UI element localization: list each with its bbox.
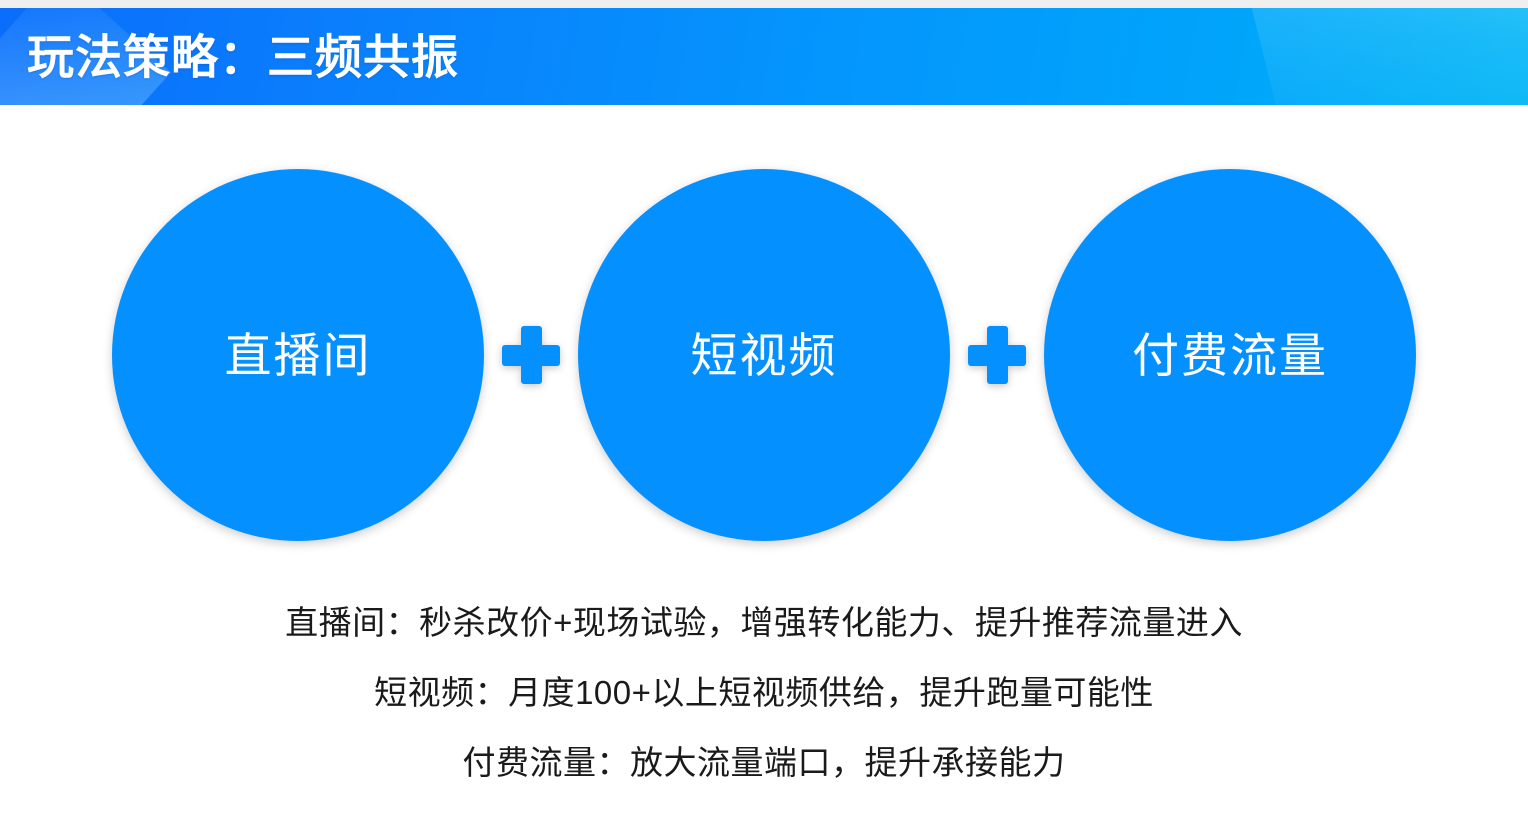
top-edge-strip	[0, 0, 1528, 8]
plus-icon	[502, 326, 560, 384]
plus-icon-vertical-bar	[987, 326, 1008, 384]
concept-circle-label: 付费流量	[1132, 332, 1328, 379]
plus-icon-vertical-bar	[521, 326, 542, 384]
detail-line-paid-traffic: 付费流量：放大流量端口，提升承接能力	[0, 728, 1528, 798]
detail-text-block: 直播间：秒杀改价+现场试验，增强转化能力、提升推荐流量进入 短视频：月度100+…	[0, 588, 1528, 798]
detail-line-live-room: 直播间：秒杀改价+现场试验，增强转化能力、提升推荐流量进入	[0, 588, 1528, 658]
concept-diagram: 直播间 短视频 付费流量	[0, 160, 1528, 550]
concept-circle-label: 直播间	[225, 332, 372, 379]
concept-circle-short-video: 短视频	[578, 169, 950, 541]
concept-circle-paid-traffic: 付费流量	[1044, 169, 1416, 541]
header-highlight-wedge-top-right	[1235, 8, 1528, 105]
concept-circle-label: 短视频	[691, 332, 838, 379]
detail-line-short-video: 短视频：月度100+以上短视频供给，提升跑量可能性	[0, 658, 1528, 728]
concept-circle-live-room: 直播间	[112, 169, 484, 541]
page-title: 玩法策略：三频共振	[27, 33, 459, 80]
slide-header-banner: 玩法策略：三频共振	[0, 8, 1528, 105]
plus-icon	[968, 326, 1026, 384]
